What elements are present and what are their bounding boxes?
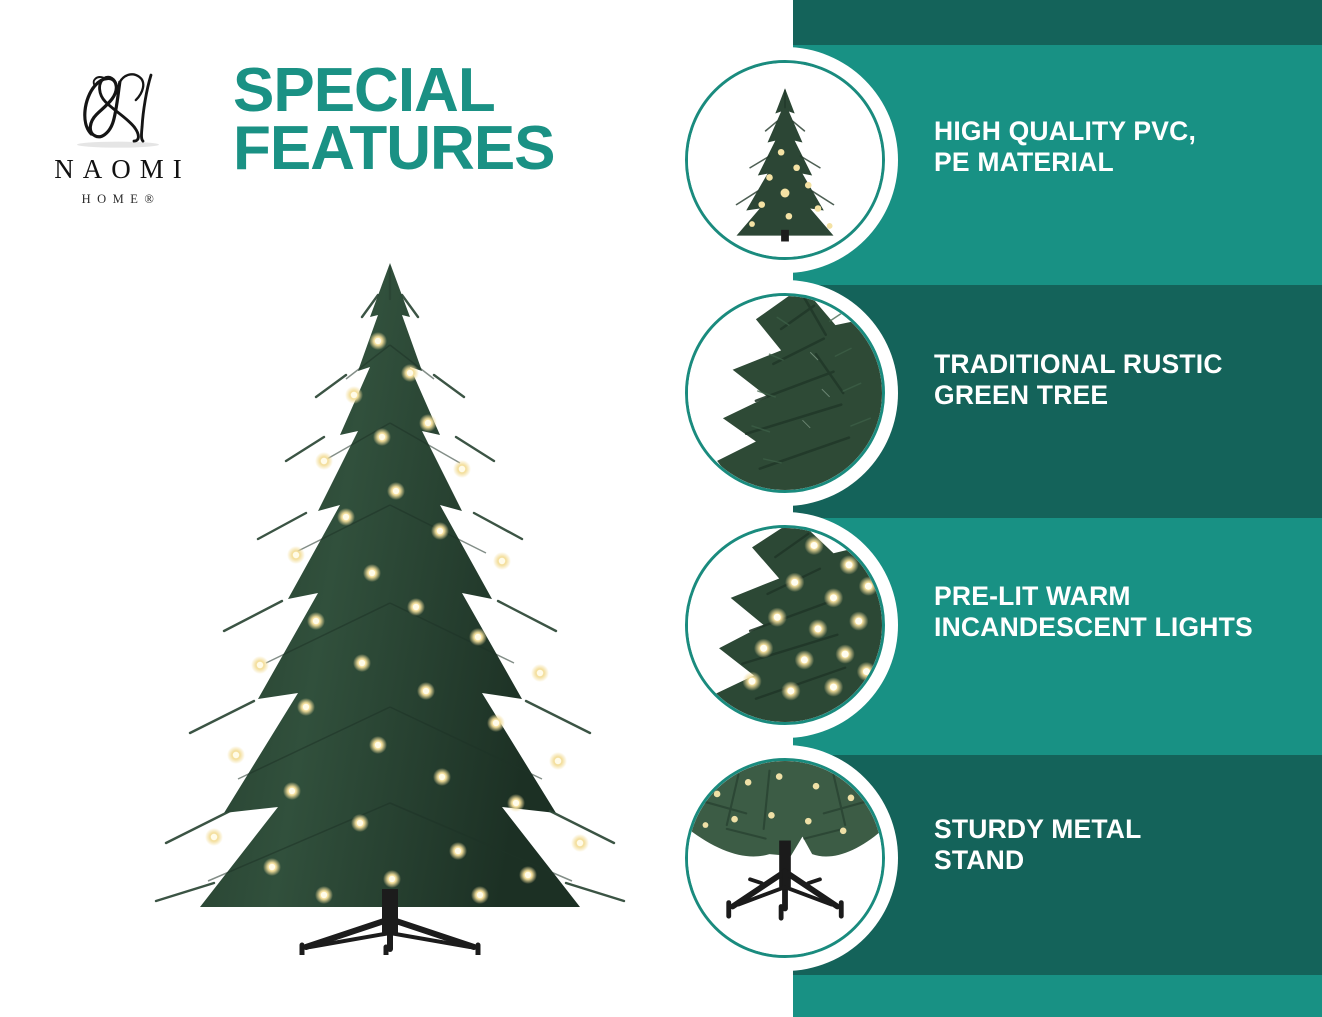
band-bottom-light xyxy=(793,975,1322,1017)
feature-thumb-4 xyxy=(672,745,898,971)
naomi-script-monogram-icon xyxy=(63,68,173,150)
brand-tagline: HOME® xyxy=(76,192,161,207)
feature-label-1: HIGH QUALITY PVC, PE MATERIAL xyxy=(934,116,1322,178)
infographic-canvas: NAOMI HOME® SPECIAL FEATURES xyxy=(0,0,1322,1017)
feature-label-3: PRE-LIT WARM INCANDESCENT LIGHTS xyxy=(934,581,1322,643)
feature-row-2[interactable]: TRADITIONAL RUSTIC GREEN TREE xyxy=(672,280,1322,480)
feature-row-4[interactable]: STURDY METAL STAND xyxy=(672,745,1322,945)
feature-row-3[interactable]: PRE-LIT WARM INCANDESCENT LIGHTS xyxy=(672,512,1322,712)
thumb-warm-lights xyxy=(685,525,885,725)
thumb-metal-stand xyxy=(685,758,885,958)
feature-label-2: TRADITIONAL RUSTIC GREEN TREE xyxy=(934,349,1322,411)
hero-product-image xyxy=(110,255,670,955)
brand-name: NAOMI xyxy=(45,154,191,185)
thumb-full-tree xyxy=(685,60,885,260)
thumb-warm-lights-image xyxy=(688,528,882,722)
page-title: SPECIAL FEATURES xyxy=(233,62,663,177)
band-top-dark xyxy=(793,0,1322,45)
thumb-metal-stand-image xyxy=(688,761,882,955)
thumb-full-tree-image xyxy=(688,63,882,257)
feature-label-4: STURDY METAL STAND xyxy=(934,814,1322,876)
feature-thumb-3 xyxy=(672,512,898,738)
thumb-green-foliage-image xyxy=(688,296,882,490)
thumb-green-foliage xyxy=(685,293,885,493)
pre-lit-christmas-tree-illustration xyxy=(110,255,670,955)
brand-logo: NAOMI HOME® xyxy=(18,68,218,218)
feature-row-1[interactable]: HIGH QUALITY PVC, PE MATERIAL xyxy=(672,47,1322,247)
feature-thumb-1 xyxy=(672,47,898,273)
feature-thumb-2 xyxy=(672,280,898,506)
